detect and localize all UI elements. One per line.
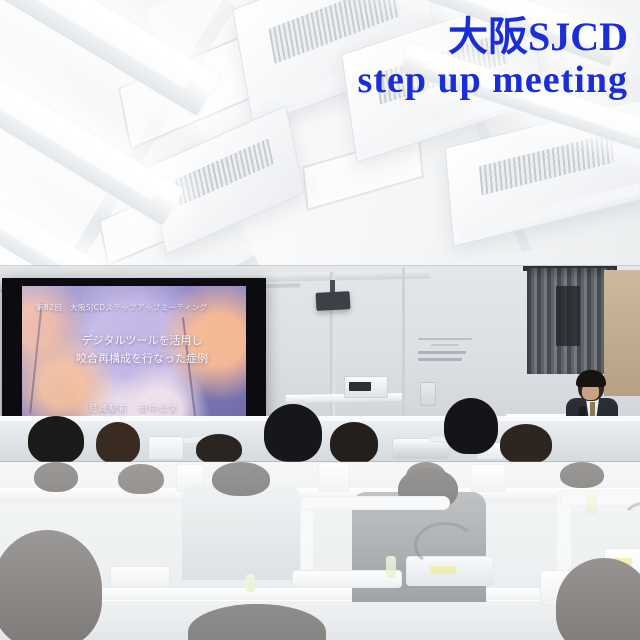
- door-panel: [604, 270, 640, 396]
- audience-head: [444, 398, 498, 454]
- projection-screen: 第82回 大阪SJCDステップアップミーティング デジタルツールを活用し 咬合再…: [22, 286, 246, 428]
- screenshot-root: 大阪SJCD step up meeting 第82回 大阪SJCDステップアッ…: [0, 0, 640, 640]
- device-display: [349, 382, 371, 391]
- lab-training-unit: [318, 462, 350, 492]
- lab-unit-base: [110, 566, 170, 588]
- screen-glare: [22, 286, 246, 428]
- wall-seam: [402, 268, 405, 428]
- bottle: [386, 556, 396, 578]
- wall-sign: [418, 338, 474, 366]
- audience-head: [264, 404, 322, 462]
- lab-unit-arm: [300, 496, 450, 510]
- audience-head: [96, 422, 140, 462]
- sign-line: [418, 358, 462, 361]
- ac-grille: [175, 139, 274, 206]
- bottle: [246, 574, 255, 592]
- av-device: [344, 376, 388, 398]
- audience-head: [28, 416, 84, 462]
- light-switch-plate[interactable]: [420, 382, 436, 406]
- lab-participant-head: [34, 462, 78, 492]
- blind-gap: [556, 286, 580, 346]
- photo-band-lecture-room: 第82回 大阪SJCDステップアップミーティング デジタルツールを活用し 咬合再…: [0, 266, 640, 462]
- audience-head: [500, 424, 552, 462]
- overlay-title: 大阪SJCD step up meeting: [358, 16, 628, 101]
- photo-band-dental-lab: [0, 462, 640, 640]
- audience-head: [330, 422, 378, 462]
- equipment-hose: [620, 502, 640, 552]
- lab-unit-arm: [560, 490, 640, 506]
- lab-participant-head: [118, 464, 164, 494]
- sign-line: [418, 338, 472, 340]
- overlay-title-line1: 大阪SJCD: [358, 16, 628, 58]
- audience-head: [196, 434, 242, 462]
- wall-speaker-icon: [316, 291, 351, 311]
- dental-unit: [148, 436, 184, 460]
- ac-grille: [479, 133, 614, 195]
- bench-edge: [0, 416, 640, 421]
- presenter-hair: [576, 370, 606, 387]
- projection-screen-frame: 第82回 大阪SJCDステップアップミーティング デジタルツールを活用し 咬合再…: [2, 278, 266, 438]
- sign-line: [418, 351, 466, 354]
- overlay-title-line2: step up meeting: [358, 60, 628, 100]
- lab-participant-head: [560, 462, 604, 488]
- foreground-head: [0, 530, 102, 640]
- lab-training-unit: [470, 464, 506, 492]
- sign-line: [431, 344, 459, 346]
- band-seam: [0, 265, 640, 266]
- lab-participant-torso: [182, 484, 300, 580]
- equipment-hose: [414, 522, 476, 568]
- bottle: [586, 490, 597, 514]
- lab-participant-head: [212, 462, 270, 496]
